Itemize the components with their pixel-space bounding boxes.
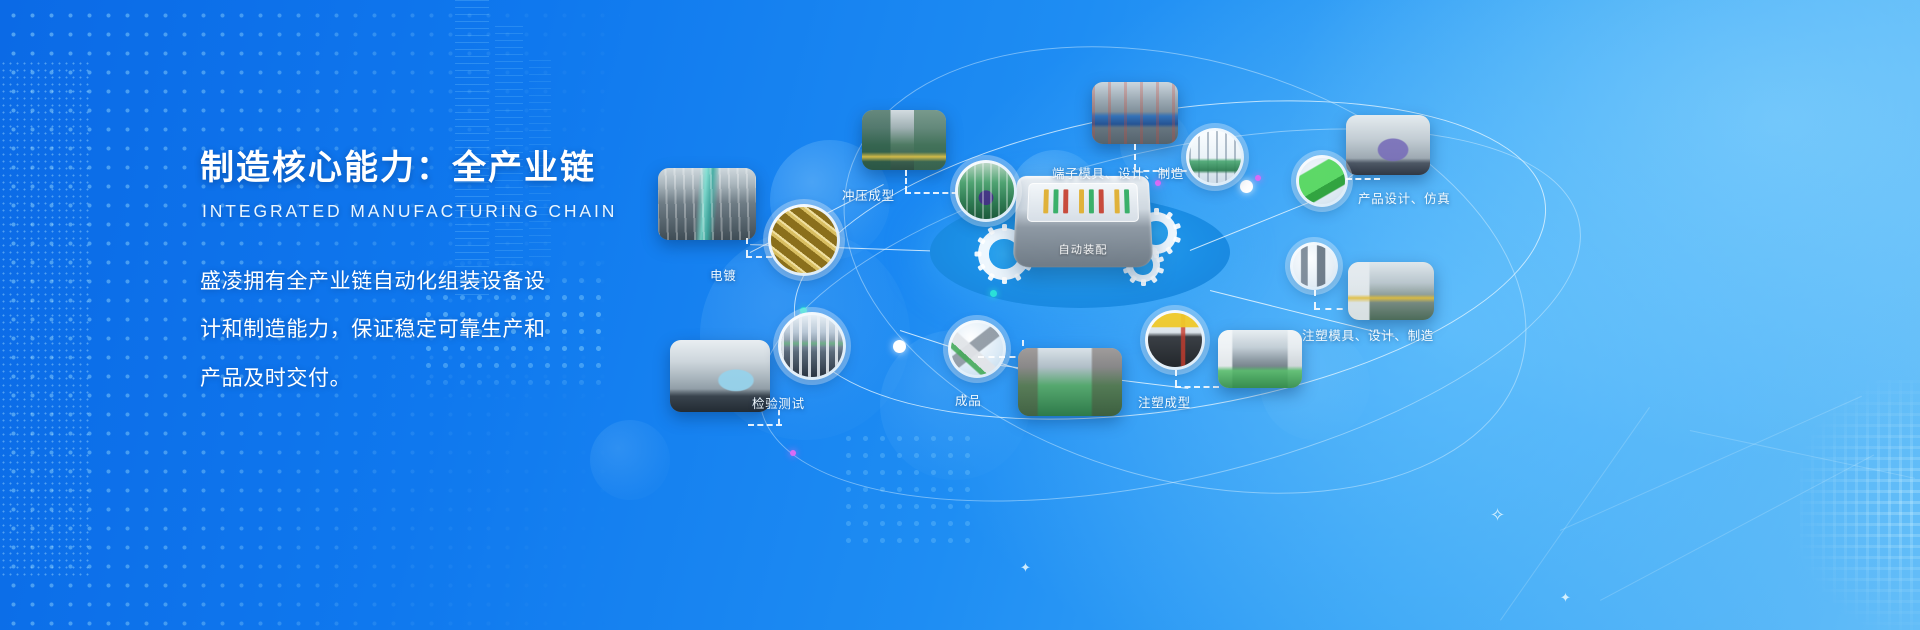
pink-dot <box>1255 175 1261 181</box>
dash-connector <box>748 424 782 426</box>
node-detail <box>1293 245 1335 287</box>
description-line: 产品及时交付。 <box>200 363 580 396</box>
connector-bead <box>893 340 906 353</box>
description-line: 计和制造能力，保证稳定可靠生产和 <box>200 314 580 347</box>
center-label: 自动装配 <box>1013 241 1153 257</box>
caption-stamping: 冲压成型 <box>842 185 895 204</box>
manufacturing-chain-diagram: 自动装配 电镀 <box>630 0 1920 630</box>
node-product-design <box>1296 155 1348 207</box>
page-subtitle: INTEGRATED MANUFACTURING CHAIN <box>202 201 580 222</box>
description-line: 盛凌拥有全产业链自动化组装设备设 <box>200 266 580 299</box>
page-title: 制造核心能力：全产业链 <box>200 148 580 189</box>
photo-stamping <box>862 110 946 170</box>
photo-electroplating <box>658 168 756 240</box>
teal-dot <box>990 290 997 297</box>
node-detail <box>781 315 843 377</box>
photo-detail <box>862 110 946 170</box>
caption-finished-product: 成品 <box>955 390 981 409</box>
dash-connector <box>905 170 907 192</box>
photo-detail <box>1218 330 1302 388</box>
photo-injection-mold <box>1348 262 1434 320</box>
node-electroplating <box>768 204 840 276</box>
node-detail <box>1189 131 1241 183</box>
photo-product-design <box>1346 115 1430 175</box>
dash-connector <box>1346 178 1380 180</box>
dash-connector <box>1175 386 1219 388</box>
description-block: 盛凌拥有全产业链自动化组装设备设 计和制造能力，保证稳定可靠生产和 产品及时交付… <box>200 266 580 396</box>
node-detail <box>958 163 1014 219</box>
caption-product-design: 产品设计、仿真 <box>1358 188 1450 207</box>
node-inspection <box>778 312 846 380</box>
photo-terminal-mold <box>1092 82 1178 144</box>
caption-injection-molding: 注塑成型 <box>1138 392 1191 411</box>
fine-dot-strip <box>0 60 90 580</box>
dash-connector <box>778 410 780 424</box>
node-finished-product <box>948 320 1006 378</box>
node-stamping <box>955 160 1017 222</box>
photo-detail <box>1092 82 1178 144</box>
pink-dot <box>790 450 796 456</box>
automatic-assembly-machine: 自动装配 <box>1013 176 1154 267</box>
node-image <box>771 207 837 273</box>
dash-connector <box>1314 290 1316 308</box>
machine-top-panel <box>1027 183 1139 222</box>
node-detail <box>951 323 1003 375</box>
photo-injection-molding <box>1218 330 1302 388</box>
node-detail <box>1148 313 1202 367</box>
node-injection-mold <box>1290 242 1338 290</box>
node-injection-molding <box>1145 310 1205 370</box>
dash-connector <box>1175 370 1177 386</box>
node-terminal-mold <box>1186 128 1244 186</box>
caption-inspection: 检验测试 <box>752 393 805 412</box>
node-detail <box>1299 158 1345 204</box>
photo-detail <box>658 168 756 240</box>
manufacturing-capability-banner: ✦ ✧ ✦ 制造核心能力：全产业链 INTEGRATED MANUFACTURI… <box>0 0 1920 630</box>
caption-electroplating: 电镀 <box>710 265 736 284</box>
photo-detail <box>1018 348 1122 416</box>
caption-injection-mold: 注塑模具、设计、制造 <box>1302 325 1434 344</box>
connector-bead <box>1240 180 1253 193</box>
photo-detail <box>1348 262 1434 320</box>
photo-detail <box>1346 115 1430 175</box>
caption-terminal-mold: 端子模具、设计、制造 <box>1052 163 1184 182</box>
photo-finished-product <box>1018 348 1122 416</box>
headline-block: 制造核心能力：全产业链 INTEGRATED MANUFACTURING CHA… <box>200 148 580 411</box>
dash-connector <box>746 238 748 256</box>
